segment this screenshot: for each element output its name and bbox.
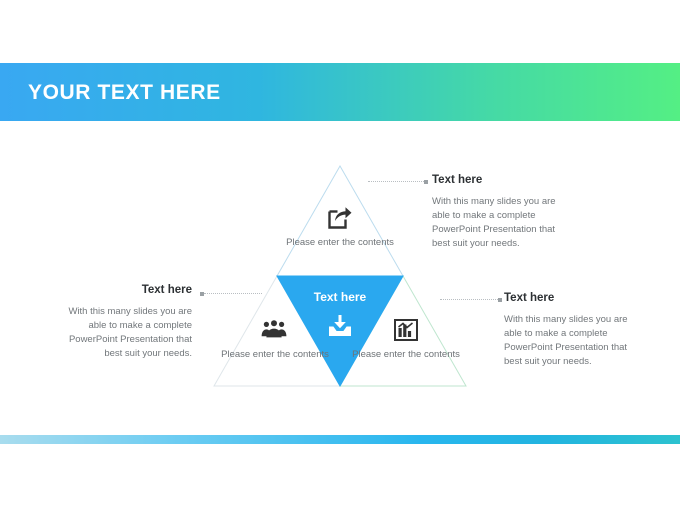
connector-line — [440, 299, 498, 301]
connector-line — [204, 293, 262, 295]
text-block-left: Text here With this many slides you are … — [66, 284, 192, 361]
triangle-shapes — [0, 140, 680, 420]
text-block-bottom-right: Text here With this many slides you are … — [504, 292, 634, 369]
connector-dot — [498, 298, 502, 302]
slide-canvas: YOUR TEXT HERE — [0, 0, 680, 510]
connector-left — [200, 293, 262, 294]
text-block-title: Text here — [66, 284, 192, 296]
text-block-body: With this many slides you are able to ma… — [504, 313, 634, 369]
footer-band — [0, 435, 680, 444]
text-block-title: Text here — [504, 292, 634, 304]
page-title: YOUR TEXT HERE — [28, 81, 221, 105]
triangle-bottom-right-caption: Please enter the contents — [351, 348, 461, 361]
text-block-title: Text here — [432, 174, 562, 186]
text-block-body: With this many slides you are able to ma… — [66, 305, 192, 361]
bar-chart-icon — [393, 317, 419, 343]
users-group-icon — [261, 317, 287, 343]
pyramid-diagram: Please enter the contents Please enter t… — [0, 140, 680, 420]
connector-line — [368, 181, 424, 183]
download-inbox-icon — [327, 313, 353, 339]
connector-dot — [424, 180, 428, 184]
triangle-center-title: Text here — [290, 290, 390, 304]
connector-top — [368, 181, 428, 182]
text-block-top-right: Text here With this many slides you are … — [432, 174, 562, 251]
triangle-bottom-left-caption: Please enter the contents — [220, 348, 330, 361]
triangle-top-caption: Please enter the contents — [285, 236, 395, 249]
share-export-icon — [327, 204, 353, 230]
connector-right — [440, 299, 502, 300]
text-block-body: With this many slides you are able to ma… — [432, 195, 562, 251]
